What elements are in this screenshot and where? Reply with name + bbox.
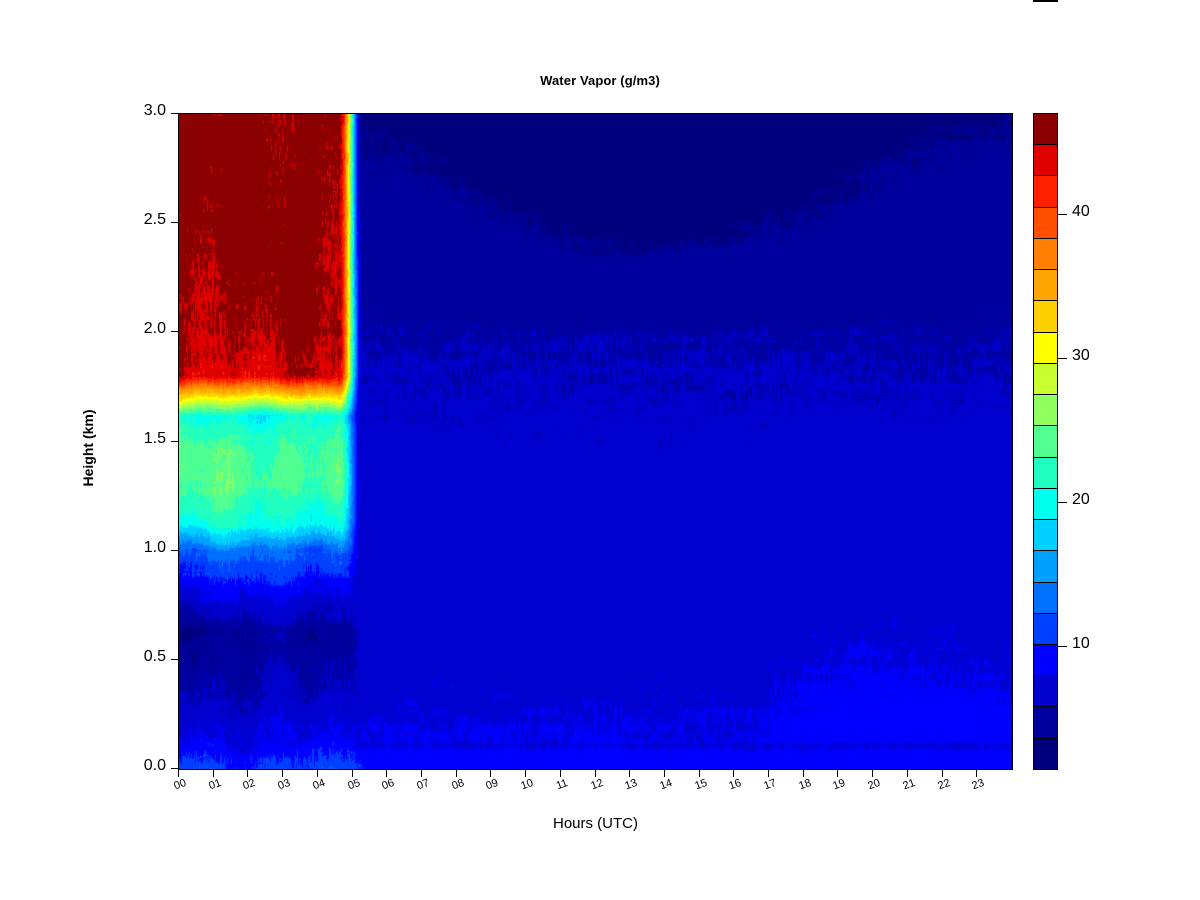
x-tick-label: 19 [825,775,854,795]
x-tick-mark [282,770,283,777]
x-tick-label: 10 [513,775,542,795]
y-tick-label: 0.0 [144,757,166,775]
x-tick-mark [247,770,248,777]
colorbar-tick-mark [1058,214,1067,215]
y-tick-label: 3.0 [144,102,166,120]
x-tick-label: 05 [339,775,368,795]
x-tick-label: 15 [686,775,715,795]
y-tick-label: 1.0 [144,539,166,557]
x-tick-mark [595,770,596,777]
colorbar-band [1034,395,1057,426]
y-tick: 0.5 [0,659,178,660]
x-tick-mark [872,770,873,777]
colorbar-tick-mark [1058,646,1067,647]
x-tick-label: 12 [582,775,611,795]
colorbar-band [1034,364,1057,395]
colorbar-band [1034,520,1057,551]
colorbar [1033,113,1058,770]
x-tick-mark [976,770,977,777]
colorbar-band [1034,489,1057,520]
y-tick: 3.0 [0,113,178,114]
y-tick-mark [171,222,178,223]
x-tick-label: 21 [895,775,924,795]
x-tick-mark [352,770,353,777]
y-tick-mark [171,441,178,442]
x-tick-label: 13 [617,775,646,795]
x-tick-mark [560,770,561,777]
x-tick-mark [421,770,422,777]
y-tick: 0.0 [0,768,178,769]
x-tick-mark [768,770,769,777]
x-tick-label: 06 [374,775,403,795]
colorbar-band [1034,333,1057,364]
x-tick-label: 02 [235,775,264,795]
y-tick-label: 0.5 [144,648,166,666]
colorbar-band [1034,176,1057,207]
x-tick-mark [213,770,214,777]
render-artifact-mark [1033,0,1058,2]
x-tick-label: 23 [964,775,993,795]
x-tick-label: 08 [443,775,472,795]
x-tick-label: 17 [756,775,785,795]
page-title: Water Vapor (g/m3) [0,73,1200,88]
colorbar-band [1034,458,1057,489]
x-tick-label: 16 [721,775,750,795]
x-tick-label: 09 [478,775,507,795]
y-tick-label: 1.5 [144,430,166,448]
x-tick-mark [837,770,838,777]
colorbar-band [1034,270,1057,301]
water-vapor-field-canvas [179,114,1012,769]
x-axis-title: Hours (UTC) [178,815,1013,832]
x-tick-mark [317,770,318,777]
colorbar-band [1034,676,1057,707]
x-tick-mark [386,770,387,777]
x-tick-mark [525,770,526,777]
colorbar-tick-label: 40 [1072,203,1090,221]
colorbar-band [1034,739,1057,769]
colorbar-band [1034,426,1057,457]
y-tick-mark [171,768,178,769]
x-tick-mark [456,770,457,777]
x-tick-label: 07 [409,775,438,795]
y-tick-mark [171,659,178,660]
x-tick-mark [942,770,943,777]
x-tick-label: 03 [270,775,299,795]
colorbar-band [1034,707,1057,738]
colorbar-tick-label: 10 [1072,635,1090,653]
x-tick-label: 00 [166,775,195,795]
y-axis-title: Height (km) [80,358,96,538]
y-tick: 1.5 [0,441,178,442]
colorbar-band [1034,208,1057,239]
contour-plot-panel [178,113,1013,770]
y-tick-mark [171,113,178,114]
y-tick-label: 2.0 [144,320,166,338]
y-tick: 2.0 [0,331,178,332]
x-tick-mark [490,770,491,777]
colorbar-tick-mark [1058,502,1067,503]
x-tick-label: 01 [200,775,229,795]
x-tick-mark [664,770,665,777]
x-tick-mark [178,770,179,777]
y-tick: 1.0 [0,550,178,551]
y-tick-label: 2.5 [144,211,166,229]
x-tick-label: 18 [791,775,820,795]
x-tick-label: 14 [652,775,681,795]
x-tick-mark [733,770,734,777]
colorbar-band [1034,145,1057,176]
x-tick-mark [907,770,908,777]
x-tick-mark [629,770,630,777]
colorbar-tick-mark [1058,358,1067,359]
y-tick-mark [171,331,178,332]
colorbar-tick-label: 30 [1072,347,1090,365]
x-tick-mark [699,770,700,777]
y-tick-mark [171,550,178,551]
water-vapor-figure: Water Vapor (g/m3) Height (km) 0.00.51.0… [0,0,1200,900]
colorbar-band [1034,645,1057,676]
x-tick-label: 04 [305,775,334,795]
colorbar-band [1034,239,1057,270]
y-tick: 2.5 [0,222,178,223]
x-tick-mark [803,770,804,777]
colorbar-band [1034,114,1057,145]
colorbar-tick-label: 20 [1072,491,1090,509]
x-tick-label: 22 [929,775,958,795]
x-tick-label: 11 [548,775,577,795]
colorbar-band [1034,301,1057,332]
colorbar-band [1034,614,1057,645]
colorbar-band [1034,583,1057,614]
x-tick-label: 20 [860,775,889,795]
colorbar-band [1034,551,1057,582]
